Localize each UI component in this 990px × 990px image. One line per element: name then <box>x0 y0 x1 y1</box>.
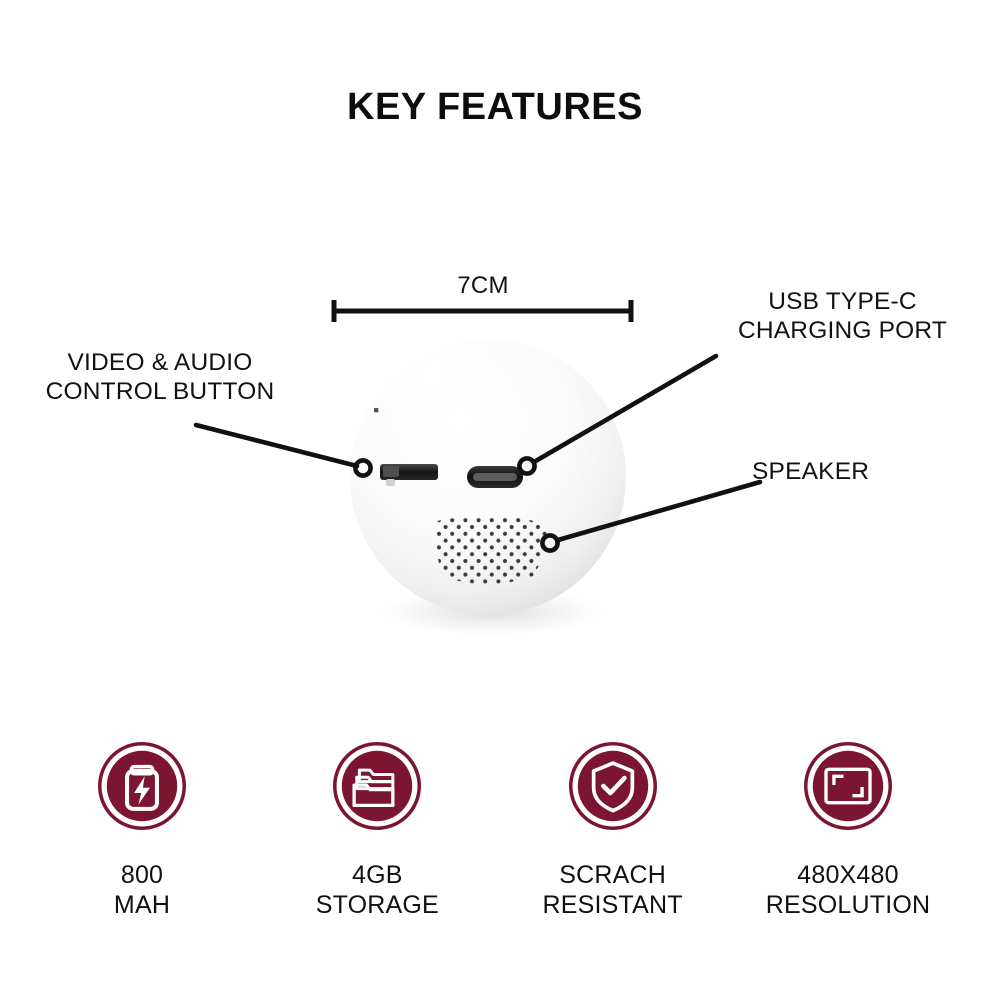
feature-item-resolution: 480X480 RESOLUTION <box>742 742 954 920</box>
dimension-line-7cm <box>333 300 632 322</box>
dimension-label-7cm: 7CM <box>333 272 633 300</box>
product-diagram: 7CM VIDEO & AUDIO CONTROL BUTTON USB TYP… <box>0 0 990 700</box>
feature-spec-strip: 800 MAH 4GB STORAGE SCRACH RESISTANT <box>0 742 990 972</box>
shield-check-icon <box>569 742 657 830</box>
callout-label-usb-type-c-charging-port: USB TYPE-C CHARGING PORT <box>700 288 985 346</box>
microphone-hole-icon <box>374 408 378 412</box>
usb-c-port-icon <box>467 466 523 488</box>
folder-stack-icon <box>333 742 421 830</box>
infographic-page: KEY FEATURES <box>0 0 990 990</box>
feature-item-battery: 800 MAH <box>36 742 248 920</box>
feature-item-scratch-resistant: SCRACH RESISTANT <box>507 742 719 920</box>
feature-caption-resolution: 480X480 RESOLUTION <box>766 860 931 920</box>
feature-item-storage: 4GB STORAGE <box>271 742 483 920</box>
feature-caption-storage: 4GB STORAGE <box>316 860 439 920</box>
callout-label-speaker: SPEAKER <box>752 458 952 487</box>
feature-caption-battery: 800 MAH <box>114 860 170 920</box>
callout-label-video-audio-control-button: VIDEO & AUDIO CONTROL BUTTON <box>10 349 310 407</box>
feature-caption-scratch-resistant: SCRACH RESISTANT <box>543 860 683 920</box>
screen-frame-icon <box>804 742 892 830</box>
callout-leader-video-audio <box>196 425 371 476</box>
battery-bolt-icon <box>98 742 186 830</box>
